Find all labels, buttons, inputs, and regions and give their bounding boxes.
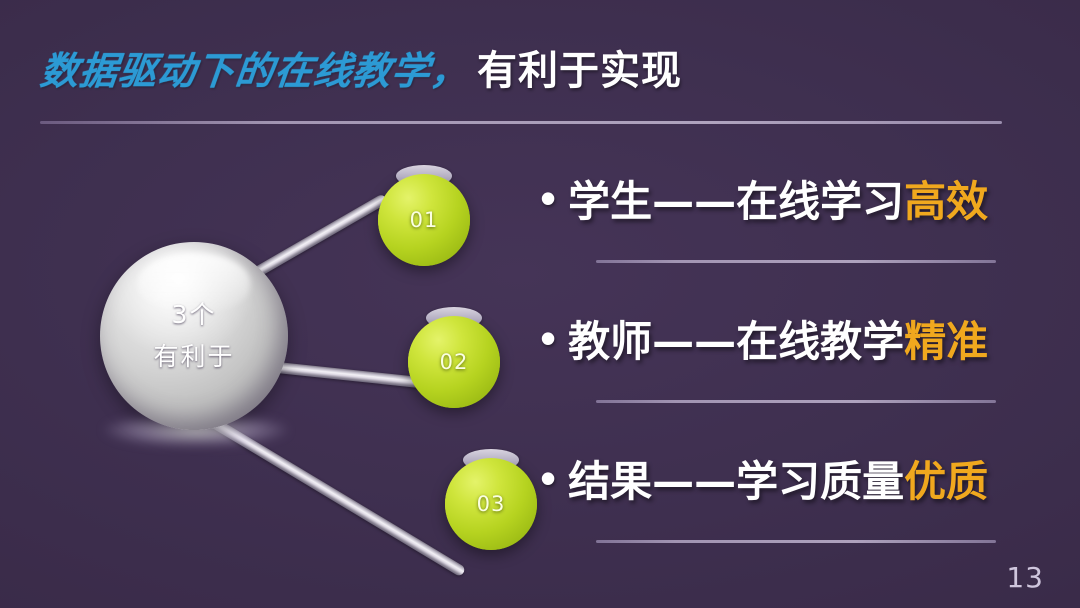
bullet-text-3: 结果——学习质量优质 xyxy=(568,448,988,509)
center-sphere: 3个 有利于 xyxy=(100,242,288,430)
bullet-text-2: 教师——在线教学精准 xyxy=(568,308,988,369)
bullet-marker-icon: • xyxy=(540,322,556,354)
page-number: 13 xyxy=(1006,561,1044,594)
node-sphere-02[interactable]: 02 xyxy=(408,316,500,408)
bullet-body-3: 结果——学习质量 xyxy=(568,457,904,506)
node-label-01: 01 xyxy=(410,208,439,232)
node-sphere-01[interactable]: 01 xyxy=(378,174,470,266)
bullet-body-1: 学生——在线学习 xyxy=(568,177,904,226)
node-sphere-03[interactable]: 03 xyxy=(445,458,537,550)
bullet-item-3: • 结果——学习质量优质 xyxy=(540,448,1060,588)
node-label-03: 03 xyxy=(477,492,506,516)
bullet-underline-2 xyxy=(596,400,996,403)
title-script-part: 数据驱动下的在线教学， xyxy=(38,40,473,95)
center-sphere-line2: 有利于 xyxy=(153,336,234,378)
slide-canvas: 数据驱动下的在线教学， 有利于实现 3个 有利于 01 02 03 • 学生——… xyxy=(0,0,1080,608)
radial-diagram: 3个 有利于 01 02 03 xyxy=(0,130,560,600)
bullet-highlight-1: 高效 xyxy=(904,177,988,226)
bullet-body-2: 教师——在线教学 xyxy=(568,317,904,366)
bullet-underline-1 xyxy=(596,260,996,263)
bullet-marker-icon: • xyxy=(540,462,556,494)
bullet-text-1: 学生——在线学习高效 xyxy=(568,168,988,229)
bullet-list: • 学生——在线学习高效 • 教师——在线教学精准 • 结果——学习质量优质 xyxy=(540,168,1060,588)
bullet-underline-3 xyxy=(596,540,996,543)
node-label-02: 02 xyxy=(440,350,469,374)
bullet-item-1: • 学生——在线学习高效 xyxy=(540,168,1060,308)
bullet-highlight-2: 精准 xyxy=(904,317,988,366)
bullet-highlight-3: 优质 xyxy=(904,457,988,506)
title-bold-part: 有利于实现 xyxy=(477,38,682,96)
bullet-item-2: • 教师——在线教学精准 xyxy=(540,308,1060,448)
title-divider xyxy=(40,121,1002,124)
page-title: 数据驱动下的在线教学， 有利于实现 xyxy=(38,38,1018,100)
bullet-marker-icon: • xyxy=(540,182,556,214)
center-sphere-line1: 3个 xyxy=(172,294,217,336)
